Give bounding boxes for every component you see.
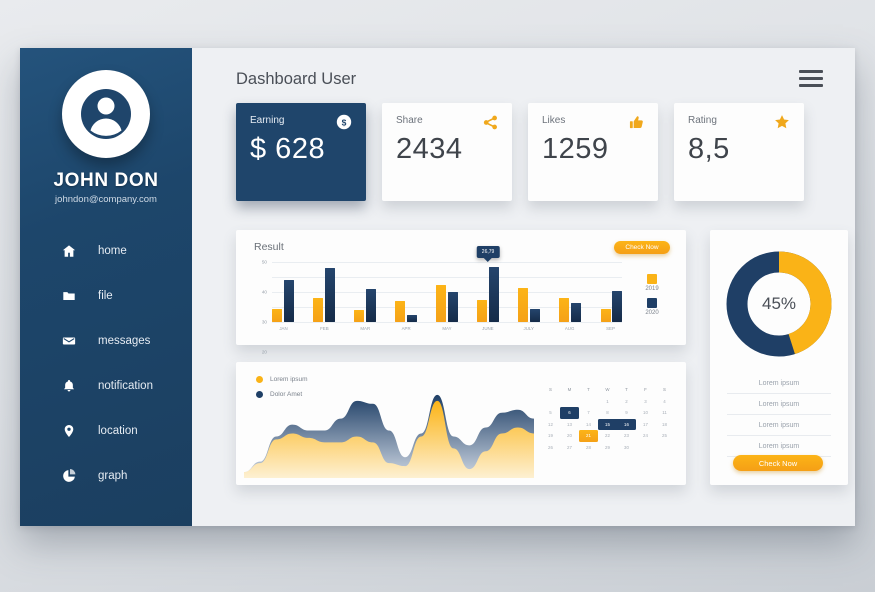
x-axis-tick: JUNE [476, 326, 499, 331]
x-axis-tick: SEP [599, 326, 622, 331]
svg-text:$: $ [342, 117, 347, 127]
stat-card-share[interactable]: Share 2434 [382, 103, 512, 201]
calendar-empty-cell [579, 396, 598, 408]
list-item: Lorem ipsum [727, 415, 831, 436]
calendar-day-cell[interactable]: 23 [617, 430, 636, 442]
x-axis-tick: MAY [436, 326, 459, 331]
calendar-day-cell[interactable]: 3 [636, 396, 655, 408]
stat-value: 8,5 [688, 133, 730, 166]
bar-2020[interactable] [407, 315, 417, 323]
user-email: johndon@company.com [20, 194, 192, 205]
sidebar-item-location[interactable]: location [20, 408, 192, 453]
legend-label: 2019 [645, 286, 658, 292]
map-pin-icon [58, 424, 80, 438]
share-icon [481, 113, 499, 131]
calendar-day-cell[interactable]: 14 [579, 419, 598, 431]
bar-group-container: 26,79 [272, 262, 622, 322]
sidebar-nav: home file messages [20, 228, 192, 498]
calendar-day-cell[interactable]: 9 [617, 407, 636, 419]
calendar-day-header: S [655, 384, 674, 396]
stat-value: $ 628 [250, 133, 325, 166]
legend-swatch-icon [647, 298, 657, 308]
check-now-button[interactable]: Check Now [733, 455, 823, 471]
bar-group[interactable] [395, 301, 417, 322]
calendar-day-cell[interactable]: 10 [636, 407, 655, 419]
calendar-day-cell[interactable]: 22 [598, 430, 617, 442]
bar-2020[interactable] [448, 292, 458, 322]
stat-card-earning[interactable]: Earning $ $ 628 [236, 103, 366, 201]
page-title: Dashboard User [236, 70, 356, 89]
x-axis-tick: JULY [517, 326, 540, 331]
bar-2020[interactable] [489, 267, 499, 323]
bar-2019[interactable] [477, 300, 487, 323]
y-axis-tick: 40 [262, 290, 267, 295]
stat-label: Earning [250, 115, 284, 126]
bar-2019[interactable] [313, 298, 323, 322]
sidebar-item-label: location [98, 425, 138, 437]
calendar-day-header: F [636, 384, 655, 396]
calendar-week-row: 19202122232425 [541, 430, 674, 442]
sidebar: JOHN DON johndon@company.com home file [20, 48, 192, 526]
x-axis-tick: JAN [272, 326, 295, 331]
sidebar-item-label: notification [98, 380, 153, 392]
bar-2019[interactable] [601, 309, 611, 323]
check-now-button[interactable]: Check Now [614, 241, 670, 254]
stat-card-likes[interactable]: Likes 1259 [528, 103, 658, 201]
calendar-day-cell[interactable]: 17 [636, 419, 655, 431]
bar-group[interactable] [559, 298, 581, 322]
sidebar-item-label: graph [98, 470, 127, 482]
bar-group[interactable] [354, 289, 376, 322]
thumbs-up-icon [627, 113, 645, 131]
bar-2019[interactable] [559, 298, 569, 322]
pie-chart-icon [58, 469, 80, 483]
calendar-day-cell[interactable]: 29 [598, 442, 617, 454]
legend-item-2019: 2019 [632, 274, 672, 292]
folder-icon [58, 289, 80, 303]
dashboard-window: JOHN DON johndon@company.com home file [20, 48, 855, 526]
hamburger-menu-icon[interactable] [799, 70, 823, 91]
area-chart-panel: Lorem ipsum Dolor Amet [236, 362, 686, 485]
bar-2019[interactable] [518, 288, 528, 323]
calendar-day-header: T [579, 384, 598, 396]
y-axis-tick: 20 [262, 350, 267, 355]
bar-2020[interactable] [612, 291, 622, 323]
y-axis-tick: 30 [262, 320, 267, 325]
calendar-day-header: M [560, 384, 579, 396]
calendar-day-cell[interactable]: 2 [617, 396, 636, 408]
calendar-widget[interactable]: SMTWTFS123456789101112131415161718192021… [541, 384, 674, 453]
sidebar-item-label: file [98, 290, 113, 302]
sidebar-item-home[interactable]: home [20, 228, 192, 273]
bar-2020[interactable] [284, 280, 294, 322]
calendar-day-cell[interactable]: 19 [541, 430, 560, 442]
bar-2020[interactable] [366, 289, 376, 322]
list-item: Lorem ipsum [727, 373, 831, 394]
bar-2019[interactable] [395, 301, 405, 322]
bar-2020[interactable] [571, 303, 581, 323]
legend-label: 2020 [645, 310, 658, 316]
home-icon [58, 244, 80, 258]
stat-value: 2434 [396, 133, 463, 166]
panel-title: Result [254, 241, 284, 253]
stat-value: 1259 [542, 133, 609, 166]
calendar-day-cell[interactable]: 24 [636, 430, 655, 442]
sidebar-item-file[interactable]: file [20, 273, 192, 318]
calendar-header-row: SMTWTFS [541, 384, 674, 396]
calendar-week-row: 567891011 [541, 407, 674, 419]
calendar-empty-cell [636, 442, 655, 454]
bar-chart-legend: 2019 2020 [632, 274, 672, 322]
gridline: 10 [272, 322, 622, 323]
area-chart-plot [244, 386, 534, 478]
sidebar-item-label: messages [98, 335, 150, 347]
calendar-day-cell[interactable]: 7 [579, 407, 598, 419]
legend-item-2020: 2020 [632, 298, 672, 316]
legend-swatch-icon [647, 274, 657, 284]
calendar-day-cell[interactable]: 16 [617, 419, 636, 431]
calendar-day-cell[interactable]: 13 [560, 419, 579, 431]
envelope-icon [58, 334, 80, 348]
calendar-week-row: 2627282930 [541, 442, 674, 454]
bar-group[interactable] [313, 268, 335, 322]
calendar-week-row: 12131415161718 [541, 419, 674, 431]
calendar-day-cell[interactable]: 8 [598, 407, 617, 419]
bar-2020[interactable] [530, 309, 540, 323]
calendar-day-cell[interactable]: 21 [579, 430, 598, 442]
x-axis-tick: FEB [313, 326, 336, 331]
calendar-day-cell[interactable]: 20 [560, 430, 579, 442]
calendar-day-cell[interactable]: 27 [560, 442, 579, 454]
hamburger-line [799, 77, 823, 80]
calendar-day-cell[interactable]: 15 [598, 419, 617, 431]
calendar-empty-cell [560, 396, 579, 408]
calendar-day-cell[interactable]: 5 [541, 407, 560, 419]
x-axis-tick: MAR [354, 326, 377, 331]
calendar-day-header: W [598, 384, 617, 396]
star-icon [773, 113, 791, 131]
calendar-day-cell[interactable]: 30 [617, 442, 636, 454]
donut-center-label: 45% [723, 248, 835, 360]
stat-label: Rating [688, 115, 717, 126]
hamburger-line [799, 70, 823, 73]
calendar-day-cell[interactable]: 25 [655, 430, 674, 442]
bar-group[interactable] [601, 291, 623, 323]
calendar-day-cell[interactable]: 18 [655, 419, 674, 431]
donut-detail-list: Lorem ipsum Lorem ipsum Lorem ipsum Lore… [727, 373, 831, 457]
calendar-empty-cell [655, 442, 674, 454]
main-content: Dashboard User Earning $ $ 628 Share 243 [192, 48, 855, 526]
bar-chart-x-labels: JANFEBMARAPRMAYJUNEJULYAUGSEP [272, 326, 622, 331]
user-avatar-icon [69, 77, 143, 151]
list-item: Lorem ipsum [727, 394, 831, 415]
avatar [62, 70, 150, 158]
calendar-range-selection[interactable]: 1516 [598, 419, 636, 431]
hamburger-line [799, 84, 823, 87]
bar-chart-plot: 504030201026,79 [272, 262, 622, 322]
calendar-day-header: S [541, 384, 560, 396]
dollar-coin-icon: $ [335, 113, 353, 131]
sidebar-item-notification[interactable]: notification [20, 363, 192, 408]
stat-label: Share [396, 115, 423, 126]
donut-chart-panel: 45% Lorem ipsum Lorem ipsum Lorem ipsum … [710, 230, 848, 485]
bar-2019[interactable] [272, 309, 282, 323]
sidebar-item-messages[interactable]: messages [20, 318, 192, 363]
calendar-day-cell[interactable]: 12 [541, 419, 560, 431]
user-name: JOHN DON [20, 170, 192, 192]
calendar-day-cell[interactable]: 11 [655, 407, 674, 419]
bar-2020[interactable] [325, 268, 335, 322]
bar-group[interactable] [272, 280, 294, 322]
bar-tooltip: 26,79 [477, 246, 500, 258]
calendar-day-cell[interactable]: 28 [579, 442, 598, 454]
y-axis-tick: 50 [262, 260, 267, 265]
bar-group[interactable]: 26,79 [477, 267, 499, 323]
calendar-day-cell[interactable]: 1 [598, 396, 617, 408]
sidebar-item-graph[interactable]: graph [20, 453, 192, 498]
calendar-week-row: 1234 [541, 396, 674, 408]
bar-2019[interactable] [354, 310, 364, 322]
bar-group[interactable] [518, 288, 540, 323]
legend-dot-icon [256, 376, 263, 383]
bar-2019[interactable] [436, 285, 446, 323]
donut-chart: 45% [723, 248, 835, 365]
legend-item-lorem-ipsum: Lorem ipsum [256, 376, 308, 383]
x-axis-tick: AUG [558, 326, 581, 331]
legend-label: Lorem ipsum [270, 376, 308, 383]
calendar-day-cell[interactable]: 26 [541, 442, 560, 454]
sidebar-item-label: home [98, 245, 127, 257]
stat-card-rating[interactable]: Rating 8,5 [674, 103, 804, 201]
bar-chart-panel: Result Check Now 504030201026,79 JANFEBM… [236, 230, 686, 345]
calendar-empty-cell [541, 396, 560, 408]
calendar-day-cell[interactable]: 4 [655, 396, 674, 408]
calendar-day-header: T [617, 384, 636, 396]
stat-label: Likes [542, 115, 565, 126]
bell-icon [58, 379, 80, 393]
list-item: Lorem ipsum [727, 436, 831, 457]
screenshot-root: JOHN DON johndon@company.com home file [0, 0, 875, 592]
bar-group[interactable] [436, 285, 458, 323]
x-axis-tick: APR [395, 326, 418, 331]
calendar-day-cell[interactable]: 6 [560, 407, 579, 419]
